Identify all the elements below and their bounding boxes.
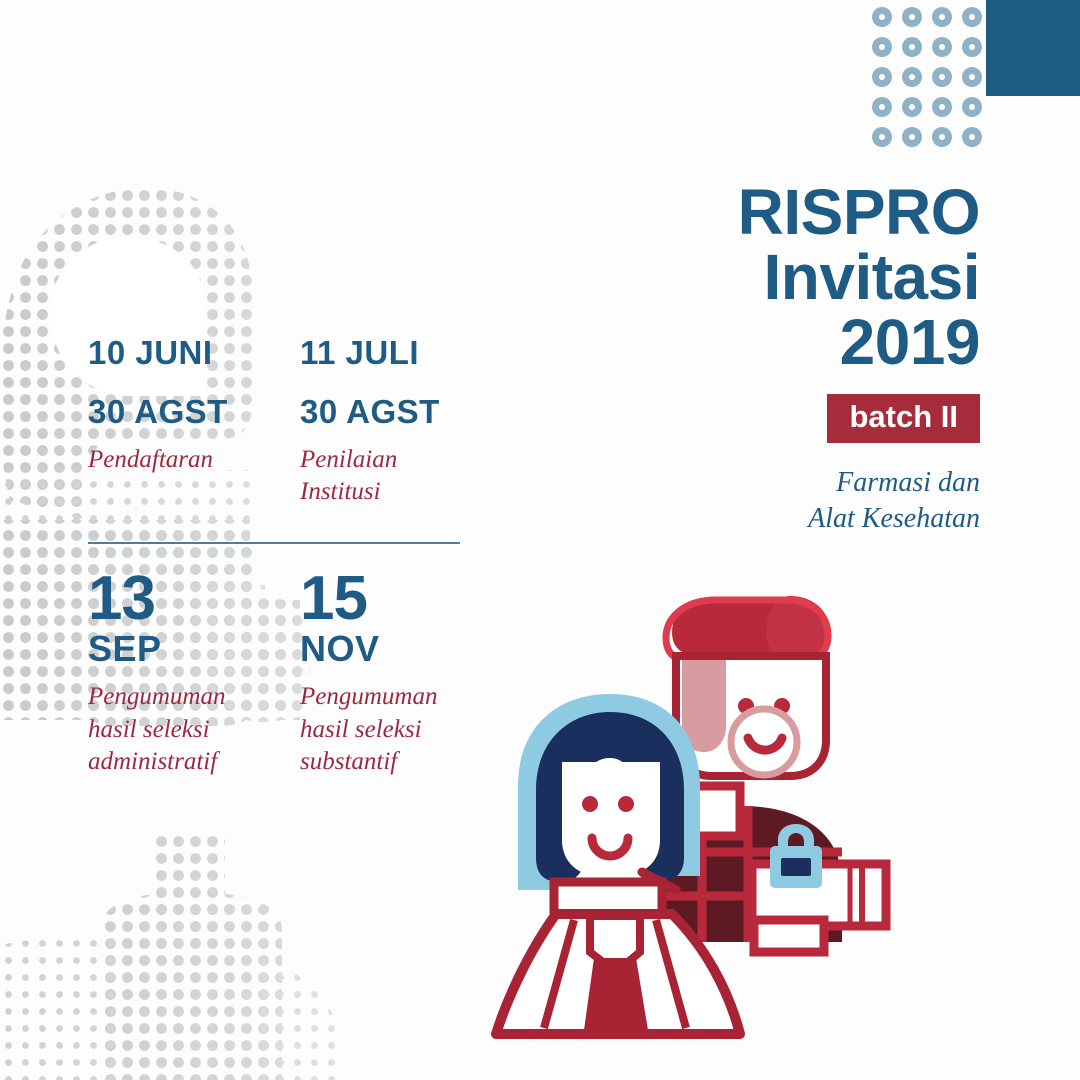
dot	[932, 67, 952, 87]
result-description: Pengumuman hasil seleksi substantif	[300, 681, 508, 779]
description-line-2: hasil seleksi	[88, 714, 300, 747]
dot	[902, 7, 922, 27]
description-line-2: hasil seleksi	[300, 714, 508, 747]
subtitle-line-2: Alat Kesehatan	[560, 501, 980, 537]
dot	[962, 67, 982, 87]
dot	[902, 67, 922, 87]
timeline-item-penilaian: 11 JULI 30 AGST Penilaian Institusi	[300, 336, 508, 508]
day-number: 15	[300, 570, 508, 627]
badge-wrapper: batch II	[560, 394, 980, 443]
section-divider	[88, 542, 460, 544]
title-year: 2019	[560, 312, 980, 373]
pharmacist-illustration	[490, 590, 930, 1060]
female-eye-left	[582, 796, 598, 812]
month-label: NOV	[300, 631, 508, 667]
dot	[872, 37, 892, 57]
dot	[962, 7, 982, 27]
blue-square-accent	[986, 0, 1080, 96]
timeline-item-substantif: 15 NOV Pengumuman hasil seleksi substant…	[300, 570, 508, 779]
dot	[902, 127, 922, 147]
dot	[932, 37, 952, 57]
timeline-item-administratif: 13 SEP Pengumuman hasil seleksi administ…	[88, 570, 300, 779]
dot	[962, 97, 982, 117]
timeline-bottom-row: 13 SEP Pengumuman hasil seleksi administ…	[88, 570, 508, 779]
day-number: 13	[88, 570, 300, 627]
dot	[962, 127, 982, 147]
date-start: 10 JUNI	[88, 336, 300, 369]
dot	[932, 7, 952, 27]
dot	[872, 127, 892, 147]
timeline-item-pendaftaran: 10 JUNI 30 AGST Pendaftaran	[88, 336, 300, 508]
description-line-3: administratif	[88, 746, 300, 779]
decorative-dot-grid	[872, 0, 994, 150]
description-line-1: Pendaftaran	[88, 444, 300, 476]
description-line-1: Pengumuman	[88, 681, 300, 714]
female-eye-right	[618, 796, 634, 812]
title-block: RISPRO Invitasi 2019 batch II Farmasi da…	[560, 182, 980, 537]
timeline-block: 10 JUNI 30 AGST Pendaftaran 11 JULI 30 A…	[88, 336, 508, 779]
date-description: Penilaian Institusi	[300, 444, 508, 508]
dot	[872, 97, 892, 117]
dot	[872, 67, 892, 87]
date-description: Pendaftaran	[88, 444, 300, 476]
dot	[872, 7, 892, 27]
subtitle-block: Farmasi dan Alat Kesehatan	[560, 465, 980, 537]
dot	[932, 97, 952, 117]
title-rispro: RISPRO	[560, 182, 980, 243]
dot	[902, 37, 922, 57]
description-line-1: Pengumuman	[300, 681, 508, 714]
subtitle-line-1: Farmasi dan	[560, 465, 980, 501]
description-line-3: substantif	[300, 746, 508, 779]
date-end: 30 AGST	[300, 395, 508, 428]
description-line-2: Institusi	[300, 476, 508, 508]
month-label: SEP	[88, 631, 300, 667]
date-start: 11 JULI	[300, 336, 508, 369]
title-invitasi: Invitasi	[560, 247, 980, 308]
poster-canvas: RISPRO Invitasi 2019 batch II Farmasi da…	[0, 0, 1080, 1080]
dot	[962, 37, 982, 57]
dot	[902, 97, 922, 117]
dot	[932, 127, 952, 147]
date-end: 30 AGST	[88, 395, 300, 428]
result-description: Pengumuman hasil seleksi administratif	[88, 681, 300, 779]
batch-badge: batch II	[827, 394, 980, 443]
description-line-1: Penilaian	[300, 444, 508, 476]
timeline-top-row: 10 JUNI 30 AGST Pendaftaran 11 JULI 30 A…	[88, 336, 508, 508]
